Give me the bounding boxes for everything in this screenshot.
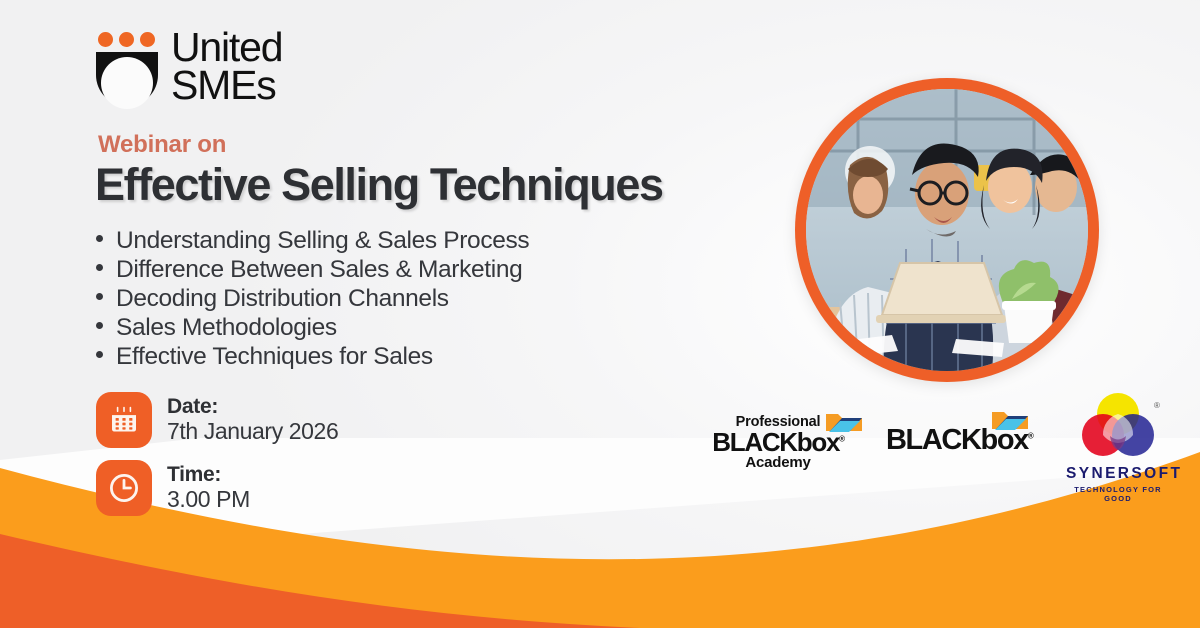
logo-dots [98, 32, 155, 47]
clock-icon [96, 460, 152, 516]
topic-label: Sales Methodologies [116, 313, 337, 342]
folder-icon [990, 406, 1030, 433]
folder-icon [824, 408, 864, 435]
bullet-dot-icon [96, 322, 103, 329]
event-detail-time: Time: 3.00 PM [96, 456, 338, 520]
united-smes-cup-logo [96, 32, 160, 106]
bullet-dot-icon [96, 264, 103, 271]
topic-label: Decoding Distribution Channels [116, 284, 449, 313]
partner-top-label: Professional [736, 414, 821, 430]
event-detail-date: Date: 7th January 2026 [96, 388, 338, 452]
bullet-dot-icon [96, 293, 103, 300]
list-item: Sales Methodologies [96, 313, 529, 342]
partner-main-upper: BLACK [712, 427, 797, 457]
hero-photo-ring [795, 78, 1099, 382]
partner-name: SYNERSOFT [1066, 465, 1170, 483]
registered-mark: ® [1154, 401, 1160, 410]
venn-circles-icon: ® [1074, 445, 1162, 462]
partner-logos: Professional BLACKbox® Academy [698, 392, 1168, 487]
bullet-dot-icon [96, 235, 103, 242]
list-item: Effective Techniques for Sales [96, 342, 529, 371]
detail-label: Time: [167, 464, 250, 487]
partner-logo-professional-blackbox-academy: Professional BLACKbox® Academy [698, 414, 858, 471]
event-details: Date: 7th January 2026 Time: 3.00 PM [96, 388, 338, 520]
bullet-dot-icon [96, 351, 103, 358]
registered-mark: ® [839, 434, 844, 443]
topics-list: Understanding Selling & Sales Process Di… [96, 226, 529, 371]
topic-label: Effective Techniques for Sales [116, 342, 433, 371]
hero-photo [806, 89, 1088, 371]
partner-tagline: TECHNOLOGY FOR GOOD [1066, 485, 1170, 503]
brand-wordmark-line1: United [171, 28, 282, 66]
topic-label: Difference Between Sales & Marketing [116, 255, 522, 284]
list-item: Decoding Distribution Channels [96, 284, 529, 313]
partner-logo-synersoft: ® SYNERSOFT TECHNOLOGY FOR GOOD [1066, 392, 1170, 503]
brand-logo: United SMEs [96, 28, 282, 106]
partner-main-upper: BLACK [886, 424, 981, 456]
list-item: Understanding Selling & Sales Process [96, 226, 529, 255]
topic-label: Understanding Selling & Sales Process [116, 226, 529, 255]
brand-wordmark-line2: SMEs [171, 66, 282, 104]
detail-value: 3.00 PM [167, 487, 250, 512]
partner-logo-blackbox: BLACKbox® [886, 426, 1036, 455]
detail-label: Date: [167, 396, 338, 419]
brand-wordmark: United SMEs [171, 28, 282, 106]
calendar-icon [96, 392, 152, 448]
webinar-banner: United SMEs Webinar on Effective Selling… [0, 0, 1200, 628]
detail-value: 7th January 2026 [167, 419, 338, 444]
webinar-kicker: Webinar on [98, 131, 226, 159]
list-item: Difference Between Sales & Marketing [96, 255, 529, 284]
page-title: Effective Selling Techniques [95, 159, 663, 211]
